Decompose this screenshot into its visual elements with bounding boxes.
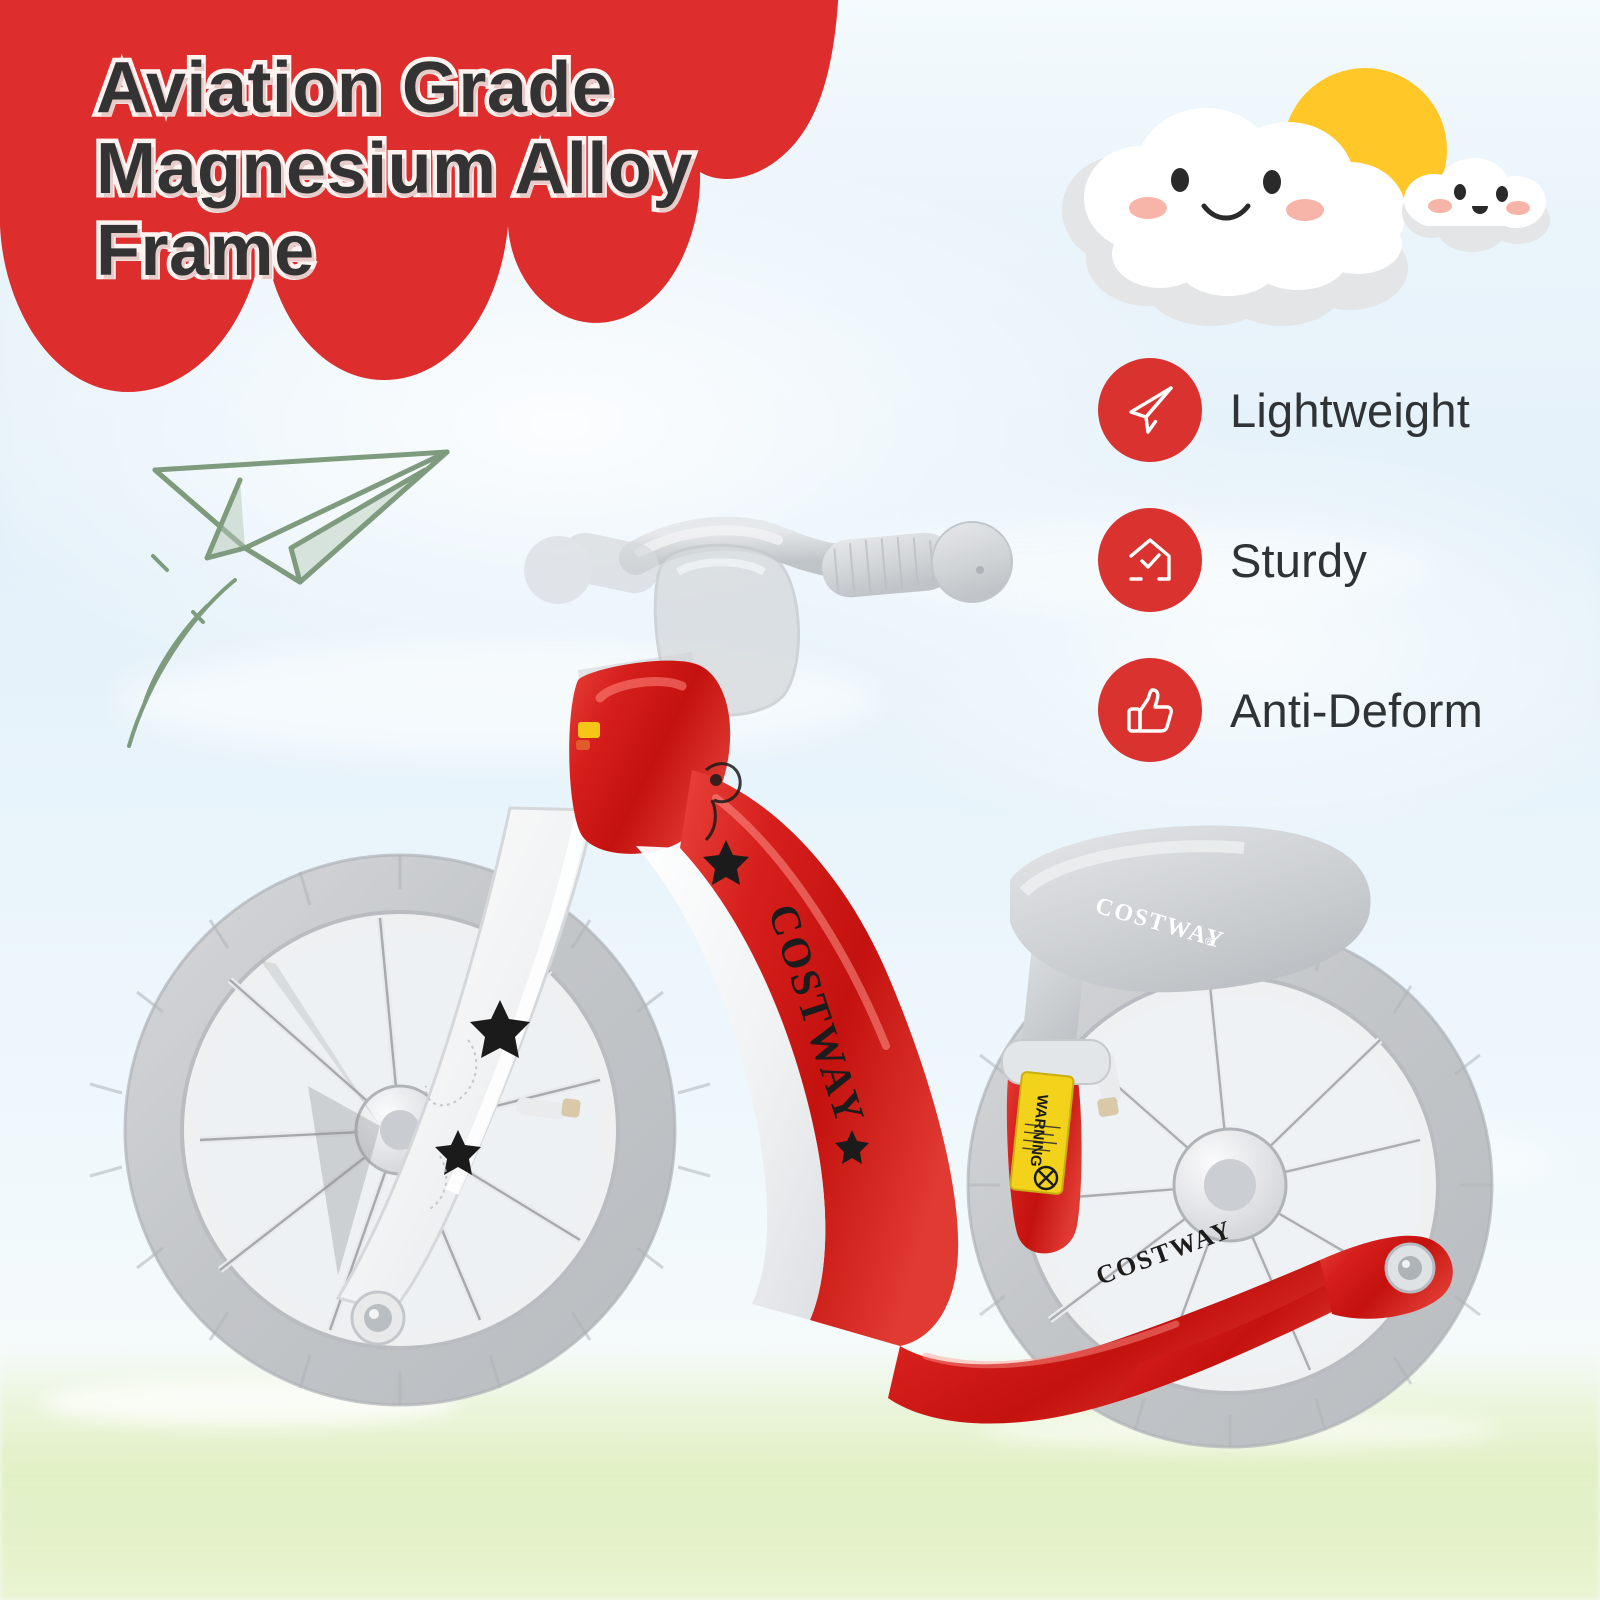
house-check-icon	[1098, 508, 1202, 612]
feature-label-anti-deform: Anti-Deform	[1230, 683, 1483, 738]
feature-label-sturdy: Sturdy	[1230, 533, 1367, 588]
sky-decoration	[1020, 30, 1600, 330]
feature-item-sturdy[interactable]: Sturdy	[1098, 508, 1483, 612]
warning-label: WARNING	[1010, 1072, 1074, 1195]
feature-item-anti-deform[interactable]: Anti-Deform	[1098, 658, 1483, 762]
banner-title-line-2: Magnesium Alloy	[96, 129, 1076, 210]
paper-plane-doodle	[95, 430, 515, 790]
feature-label-lightweight: Lightweight	[1230, 383, 1470, 438]
paper-plane-icon	[1098, 358, 1202, 462]
banner-title: Aviation Grade Magnesium Alloy Frame	[96, 48, 1076, 292]
banner-title-line-3: Frame	[96, 211, 1076, 292]
banner-title-line-1: Aviation Grade	[96, 48, 1076, 129]
product-marketing-image: COSTWAY COSTWAY	[0, 0, 1600, 1600]
thumbs-up-icon	[1098, 658, 1202, 762]
handlebar-grip-right	[820, 522, 1012, 602]
feature-item-lightweight[interactable]: Lightweight	[1098, 358, 1483, 462]
feature-list: Lightweight Sturdy Anti-Deform	[1098, 358, 1483, 762]
